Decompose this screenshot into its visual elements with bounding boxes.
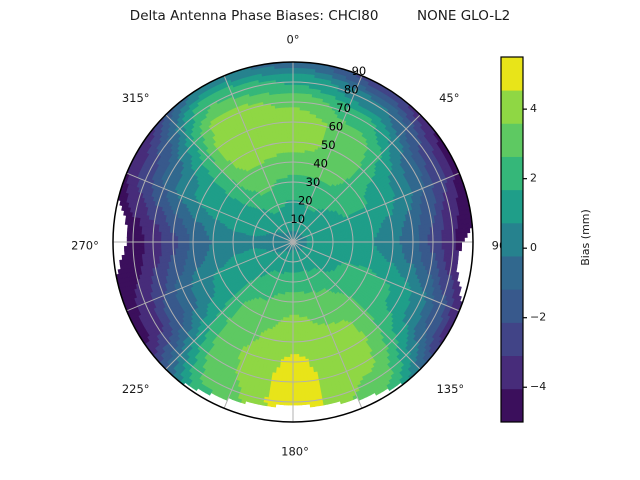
colorbar-band-7 [501,157,523,191]
radial-tick-80: 80 [344,83,359,97]
polar-grid-layer [113,62,473,422]
angular-tick-180: 180° [281,445,309,459]
colorbar-band-4 [501,256,523,290]
colorbar-band-3 [501,289,523,323]
colorbar-tick-3: −2 [530,311,546,324]
colorbar-band-5 [501,223,523,257]
radial-tick-40: 40 [313,157,328,171]
radial-tick-50: 50 [321,138,336,152]
figure-canvas: { "figure": { "title": "Delta Antenna Ph… [0,0,640,480]
colorbar-band-2 [501,322,523,356]
colorbar-tick-1: 2 [530,172,537,185]
colorbar-tick-4: −4 [530,380,546,393]
radial-tick-70: 70 [336,101,351,115]
colorbar-tick-2: 0 [530,241,537,254]
angular-tick-45: 45° [439,91,459,105]
colorbar-band-6 [501,190,523,224]
radial-tick-60: 60 [329,120,344,134]
colorbar-axis-label: Bias (mm) [579,209,592,266]
angular-tick-225: 225° [122,382,150,396]
colorbar-band-9 [501,90,523,124]
angular-tick-0: 0° [286,33,299,47]
radial-tick-10: 10 [290,212,305,226]
colorbar-layer: 420−2−4 [501,57,546,422]
radial-tick-30: 30 [306,175,321,189]
radial-tick-20: 20 [298,194,313,208]
colorbar-band-0 [501,389,523,423]
colorbar-band-10 [501,57,523,91]
colorbar-band-8 [501,123,523,157]
angular-tick-135: 135° [436,382,464,396]
colorbar-tick-0: 4 [530,102,537,115]
angular-tick-315: 315° [122,91,150,105]
polar-contour-plot: 0°45°90135°180°225°270°315°1020304050607… [0,0,640,480]
angular-tick-270: 270° [71,239,99,253]
radial-tick-90: 90 [352,64,367,78]
colorbar-band-1 [501,356,523,390]
